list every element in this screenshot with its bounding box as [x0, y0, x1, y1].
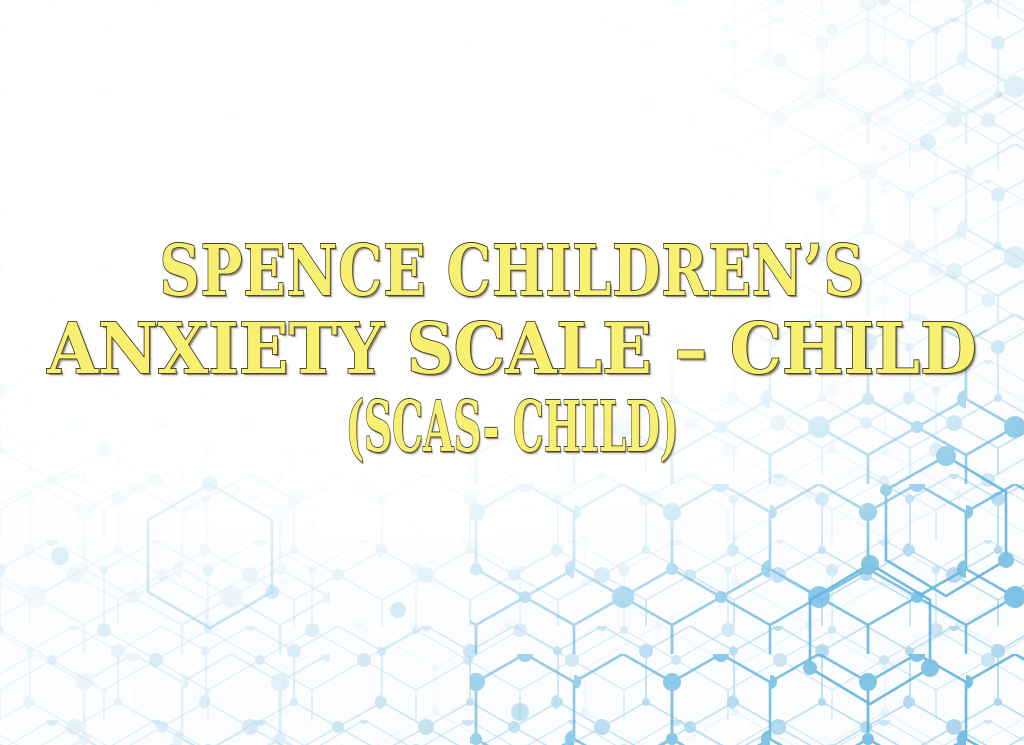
title-line-3: (SCAS- CHILD) — [227, 392, 797, 462]
hex-accent-strokes — [148, 456, 1006, 704]
poster-canvas: SPENCE CHILDREN’S ANXIETY SCALE – CHILD … — [0, 0, 1024, 745]
title-line-1: SPENCE CHILDREN’S — [104, 236, 919, 306]
title-line-2: ANXIETY SCALE – CHILD — [35, 314, 990, 384]
poster-title: SPENCE CHILDREN’S ANXIETY SCALE – CHILD … — [0, 236, 1024, 462]
